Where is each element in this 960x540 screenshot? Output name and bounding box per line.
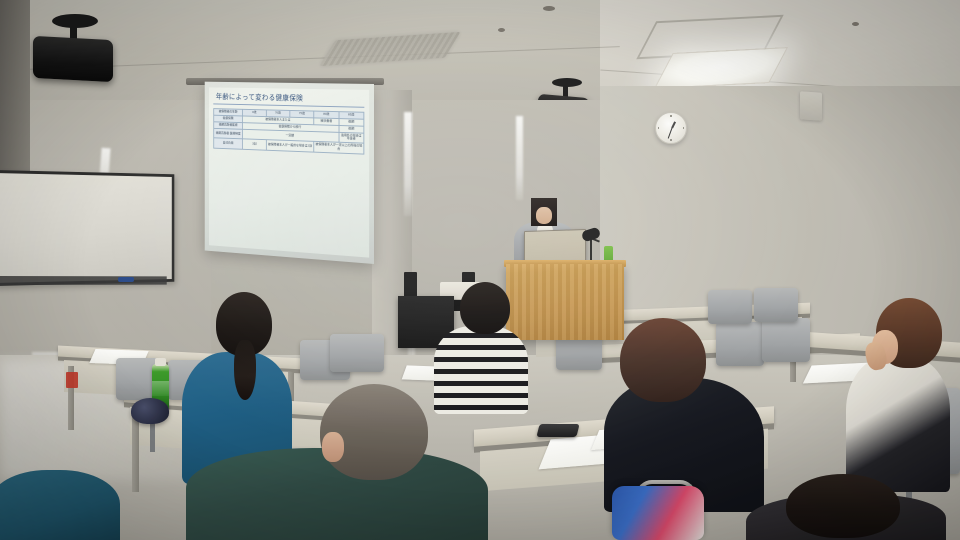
attendee-ponytail	[234, 340, 256, 400]
bottle-cap	[155, 358, 166, 366]
patterned-pouch	[131, 398, 169, 424]
clock-minute-hand	[667, 128, 672, 138]
chair	[330, 334, 384, 372]
presenter-face	[536, 207, 552, 224]
chair	[708, 290, 752, 324]
ceiling-sensor-icon	[852, 22, 859, 26]
table-cell: 被保険者本人が一般的な場合は2割	[266, 140, 314, 152]
projector-left-icon	[33, 36, 113, 82]
ceiling-sensor-icon	[543, 6, 555, 11]
table-row-label: 自己負担	[214, 138, 243, 149]
slide-title: 年齢によって変わる健康保険	[213, 91, 364, 108]
podium	[506, 264, 624, 340]
attendee-bottom-right-head	[786, 474, 900, 538]
smartphone[interactable]	[536, 424, 579, 437]
wall-light-reflection	[404, 112, 412, 216]
whiteboard	[0, 170, 174, 286]
chair	[716, 322, 764, 366]
attendee-white-shirt-body	[846, 356, 950, 492]
speaker	[404, 272, 417, 298]
table-cell: 3割	[243, 139, 266, 150]
projection-screen: 年齢によって変わる健康保険 被保険者の年齢 0歳 70歳 75歳 80歳 85歳…	[205, 82, 374, 264]
seminar-room-photo: 年齢によって変わる健康保険 被保険者の年齢 0歳 70歳 75歳 80歳 85歳…	[0, 0, 960, 540]
desk-leg	[132, 416, 139, 492]
ceiling-sensor-icon	[498, 28, 505, 32]
presentation-slide: 年齢によって変わる健康保険 被保険者の年齢 0歳 70歳 75歳 80歳 85歳…	[209, 87, 369, 257]
whiteboard-marker-tray	[0, 276, 167, 285]
desk-tag	[66, 372, 78, 388]
chair	[754, 288, 798, 322]
wall-mounted-speaker	[800, 91, 822, 121]
attendee-left-edge-body	[0, 470, 120, 540]
attendee-dark-blazer-head	[620, 318, 706, 402]
wall-clock	[655, 112, 687, 144]
colorful-tote-bag	[612, 486, 704, 540]
whiteboard-marker	[118, 277, 134, 282]
chair	[762, 318, 810, 362]
attendee-green-shirt-ear	[322, 432, 344, 462]
attendee-striped-head	[460, 282, 510, 334]
slide-table: 被保険者の年齢 0歳 70歳 75歳 80歳 85歳 健康保険 被保険者本人また…	[213, 108, 364, 154]
attendee-striped-body	[434, 326, 528, 414]
ceiling-light-panel	[654, 47, 788, 89]
wall-light-reflection	[516, 116, 523, 200]
table-cell: 被保険者本人が一定以上の所得の場合	[314, 142, 364, 154]
